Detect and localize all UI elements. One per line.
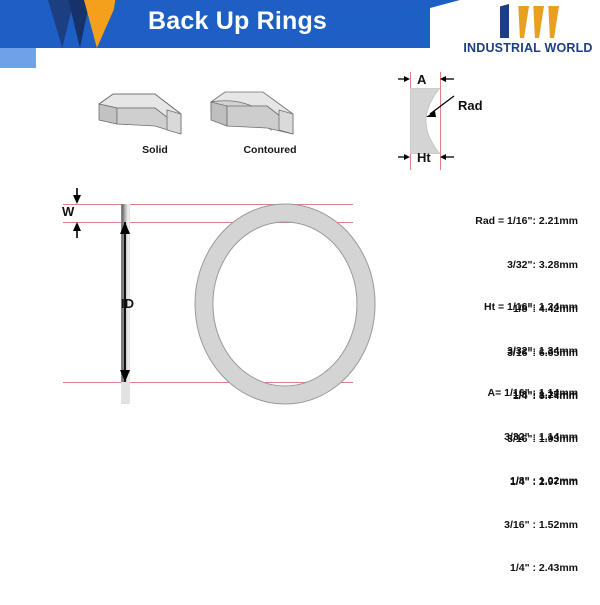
dimension-label-a: A	[417, 72, 426, 87]
spec-line: Rad = 1/16": 2.21mm	[356, 214, 578, 229]
page-title: Back Up Rings	[148, 7, 327, 36]
iw-monogram-icon	[500, 4, 570, 38]
logo-w-stroke-2	[531, 6, 544, 38]
dimension-label-rad: Rad	[458, 98, 483, 113]
dimension-label-w: W	[62, 204, 74, 219]
solid-ring-segment-illustration	[95, 80, 187, 138]
spec-line: A= 1/16" : 1.14mm	[356, 386, 578, 401]
spec-line: Ht = 1/16": 1.24mm	[356, 300, 578, 315]
ring-dimension-arrows	[55, 180, 375, 415]
cross-section-dimension-arrows	[396, 72, 496, 172]
contoured-label: Contoured	[225, 144, 315, 156]
company-logo: INDUSTRIAL WORLD	[462, 4, 594, 60]
spec-line: 3/16" : 1.52mm	[356, 518, 578, 533]
solid-label: Solid	[120, 144, 190, 156]
logo-letter-i	[500, 7, 509, 38]
logo-wordmark: INDUSTRIAL WORLD	[462, 41, 594, 55]
logo-w-stroke-3	[546, 6, 559, 38]
dimension-label-ht: Ht	[417, 150, 431, 165]
spec-block-a: A= 1/16" : 1.14mm 3/32" : 1.14mm 1/8" : …	[356, 357, 578, 605]
spec-line: 1/8" : 1.02mm	[356, 474, 578, 489]
spec-line: 3/32" : 1.14mm	[356, 430, 578, 445]
spec-line: 1/4" : 2.43mm	[356, 561, 578, 576]
contoured-ring-segment-illustration	[205, 80, 301, 138]
dimension-label-id: ID	[121, 296, 134, 311]
header-accent-block	[0, 48, 36, 68]
slide-canvas: Back Up Rings INDUSTRIAL WORLD	[0, 0, 600, 443]
cross-section-diagram	[396, 72, 496, 172]
ring-diagram	[55, 180, 375, 415]
logo-w-stroke-1	[516, 6, 529, 38]
